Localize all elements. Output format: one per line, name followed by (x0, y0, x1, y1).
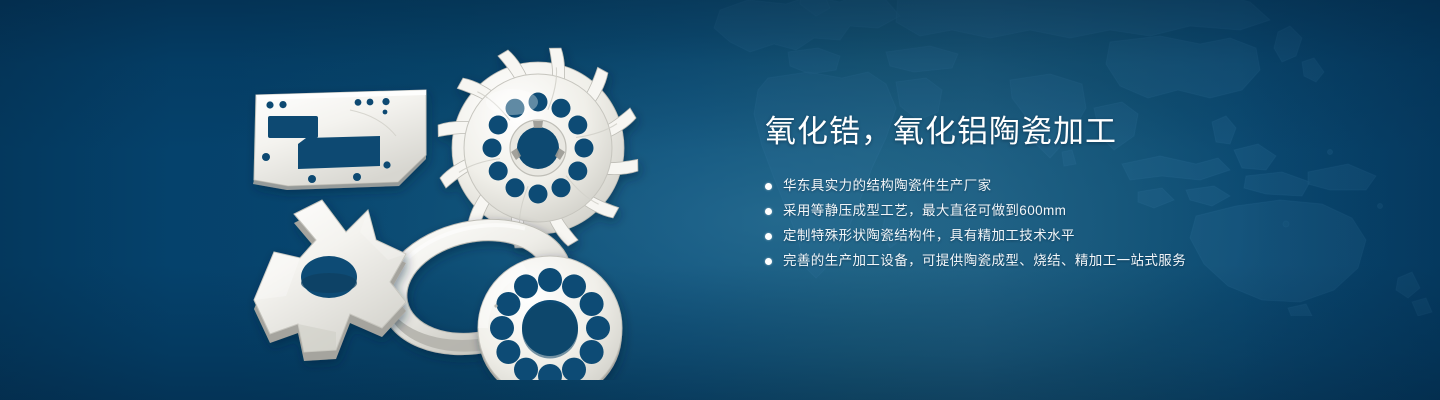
feature-text: 华东具实力的结构陶瓷件生产厂家 (783, 178, 992, 194)
product-hero-banner: 氧化锆，氧化铝陶瓷加工 华东具实力的结构陶瓷件生产厂家 采用等静压成型工艺，最大… (0, 0, 1440, 400)
list-item: 定制特殊形状陶瓷结构件，具有精加工技术水平 (765, 228, 1385, 244)
feature-text: 定制特殊形状陶瓷结构件，具有精加工技术水平 (783, 228, 1075, 244)
list-item: 华东具实力的结构陶瓷件生产厂家 (765, 178, 1385, 194)
bullet-dot-icon (765, 233, 772, 240)
bullet-dot-icon (765, 183, 772, 190)
ceramic-plate-with-cutouts (253, 90, 426, 190)
feature-text: 完善的生产加工设备，可提供陶瓷成型、烧结、精加工一站式服务 (783, 253, 1186, 269)
list-item: 完善的生产加工设备，可提供陶瓷成型、烧结、精加工一站式服务 (765, 253, 1385, 269)
banner-headline: 氧化锆，氧化铝陶瓷加工 (765, 112, 1385, 152)
feature-text: 采用等静压成型工艺，最大直径可做到600mm (783, 203, 1066, 219)
product-photo-group (230, 40, 700, 380)
feature-list: 华东具实力的结构陶瓷件生产厂家 采用等静压成型工艺，最大直径可做到600mm 定… (765, 178, 1385, 269)
bullet-dot-icon (765, 258, 772, 265)
ceramic-perforated-disc (478, 256, 622, 380)
list-item: 采用等静压成型工艺，最大直径可做到600mm (765, 203, 1385, 219)
banner-copy: 氧化锆，氧化铝陶瓷加工 华东具实力的结构陶瓷件生产厂家 采用等静压成型工艺，最大… (765, 112, 1385, 278)
ceramic-impeller-disc (433, 43, 643, 253)
bullet-dot-icon (765, 208, 772, 215)
ceramic-cross-shaped-part (254, 200, 406, 361)
